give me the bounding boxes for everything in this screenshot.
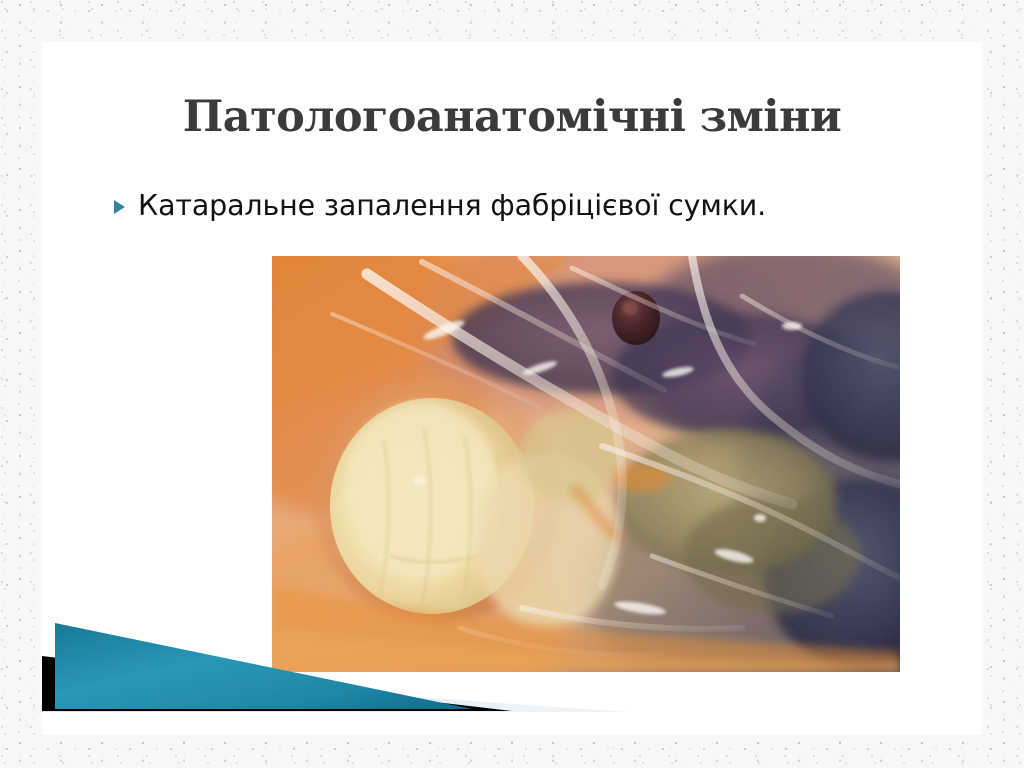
slide-content-area: Патологоанатомічні зміни Катаральне запа… [42,42,982,735]
bullet-item-label: Катаральне запалення фабріцієвої сумки. [138,189,766,222]
slide-canvas: Патологоанатомічні зміни Катаральне запа… [0,0,1024,768]
list-item: Катаральне запалення фабріцієвої сумки. [114,189,766,222]
triangle-bullet-icon [114,200,125,214]
page-title: Патологоанатомічні зміни [42,94,982,141]
pathology-photo [272,256,900,672]
